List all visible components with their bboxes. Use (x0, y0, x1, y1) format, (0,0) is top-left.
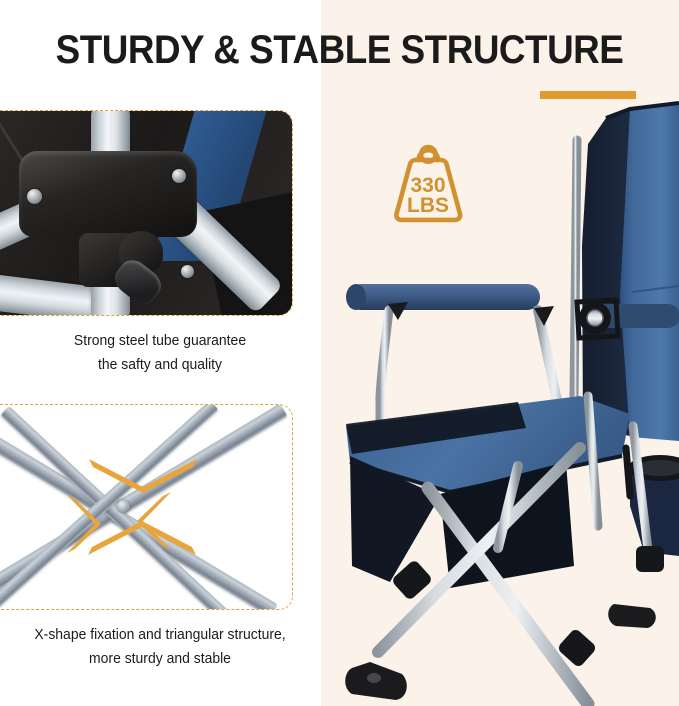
caption-line-1: Strong steel tube guarantee (11, 329, 309, 353)
caption-line-2: more sturdy and stable (11, 647, 309, 671)
page-title: STURDY & STABLE STRUCTURE (27, 28, 652, 73)
center-pivot-bolt (117, 500, 130, 513)
rivet-right (172, 169, 186, 183)
armrest-pad-left (348, 284, 540, 310)
caption-line-1: X-shape fixation and triangular structur… (11, 623, 309, 647)
caption-steel-tube-joint: Strong steel tube guarantee the safty an… (11, 329, 309, 377)
rivet-left (27, 189, 42, 204)
caption-line-2: the safty and quality (11, 353, 309, 377)
cup-holder-arm (626, 448, 630, 496)
chair-backrest-blue-panel (620, 104, 679, 441)
black-bracket-block (19, 151, 197, 237)
armrest-pivot-bolt (587, 310, 603, 326)
chair-foot-rear (608, 604, 656, 628)
backrest-frame-tube (574, 140, 577, 396)
chair-foot-left-highlight (367, 673, 381, 683)
armrest-pad-left-end (346, 284, 366, 310)
feature-image-x-shape-frame (0, 404, 293, 610)
infographic-page: STURDY & STABLE STRUCTURE Strong steel t… (0, 0, 679, 706)
feature-image-steel-tube-joint (0, 110, 293, 316)
xframe-photo (0, 405, 292, 609)
joint-photo (0, 111, 292, 315)
rivet-lower-right (181, 265, 194, 278)
product-image-camping-chair (330, 96, 679, 706)
leg-bracket-rear (636, 546, 664, 572)
caption-x-shape-frame: X-shape fixation and triangular structur… (11, 623, 309, 671)
armrest-front-leg-support (380, 310, 389, 426)
